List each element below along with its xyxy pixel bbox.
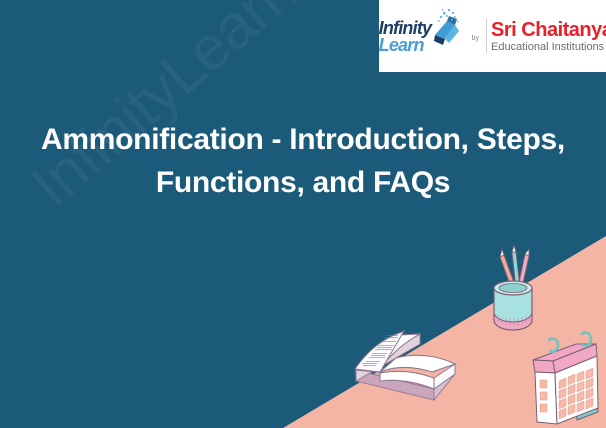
sri-chaitanya-logo: Sri Chaitanya Educational Institutions xyxy=(491,20,606,53)
logo-divider xyxy=(486,19,487,53)
brand-secondary-text: Learn xyxy=(379,36,424,54)
partner-tagline-text: Educational Institutions xyxy=(491,42,606,53)
desk-calendar-icon xyxy=(533,333,598,424)
pencil-salmon xyxy=(500,249,516,290)
infinity-learn-logo: Infinity Learn xyxy=(379,5,469,67)
partner-name-text: Sri Chaitanya xyxy=(491,20,606,40)
pencil-mint xyxy=(512,245,520,289)
page-title: Ammonification - Introduction, Steps, Fu… xyxy=(0,118,606,204)
arrow-bird-icon xyxy=(421,7,469,55)
poster-canvas: InfinityLearn.com xyxy=(0,0,606,428)
brand-logo-panel[interactable]: Infinity Learn by Sri Chaitanya Educatio xyxy=(379,0,606,72)
pencil-cup-icon xyxy=(494,245,532,330)
logo-connector-text: by xyxy=(469,35,482,42)
pencil-pink xyxy=(518,249,529,288)
open-book-icon xyxy=(355,331,455,400)
